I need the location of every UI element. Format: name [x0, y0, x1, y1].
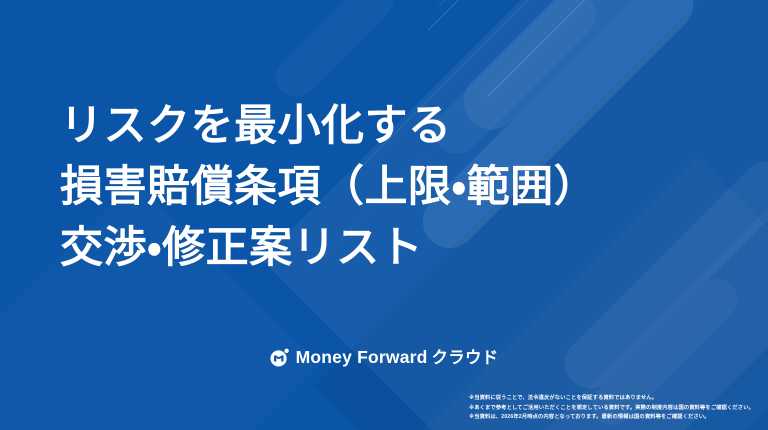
diagonal-hairline — [438, 0, 566, 7]
diagonal-hairline — [488, 0, 673, 97]
title-line-2: 損害賠償条項（上限・範囲） — [60, 157, 597, 218]
diagonal-capsule-stripe — [268, 0, 402, 105]
money-forward-logo-mark-icon — [270, 348, 289, 367]
footnote-block: ※当資料に従うことで、法令違反がないことを保証する資料ではありません。 ※あくま… — [469, 394, 754, 422]
brand-logo-lockup: Money Forwardクラウド — [0, 348, 768, 367]
product-name: クラウド — [432, 349, 499, 367]
footnote-line-3: ※当資料は、2026年2月時点の内容となっております。最新の情報は国の資料等をご… — [469, 413, 754, 422]
title-line-3: 交渉・修正案リスト — [60, 218, 597, 279]
footnote-line-2: ※あくまで参考としてご活用いただくことを想定している資料です。実際の制度内容は国… — [469, 404, 754, 413]
footnote-line-1: ※当資料に従うことで、法令違反がないことを保証する資料ではありません。 — [469, 394, 754, 403]
page-title: リスクを最小化する 損害賠償条項（上限・範囲） 交渉・修正案リスト — [60, 96, 597, 279]
title-slide: リスクを最小化する 損害賠償条項（上限・範囲） 交渉・修正案リスト Money … — [0, 0, 768, 430]
brand-name: Money Forward — [296, 347, 428, 367]
diagonal-hairline — [428, 0, 641, 31]
title-line-1: リスクを最小化する — [60, 96, 597, 157]
brand-wordmark: Money Forwardクラウド — [296, 349, 499, 367]
